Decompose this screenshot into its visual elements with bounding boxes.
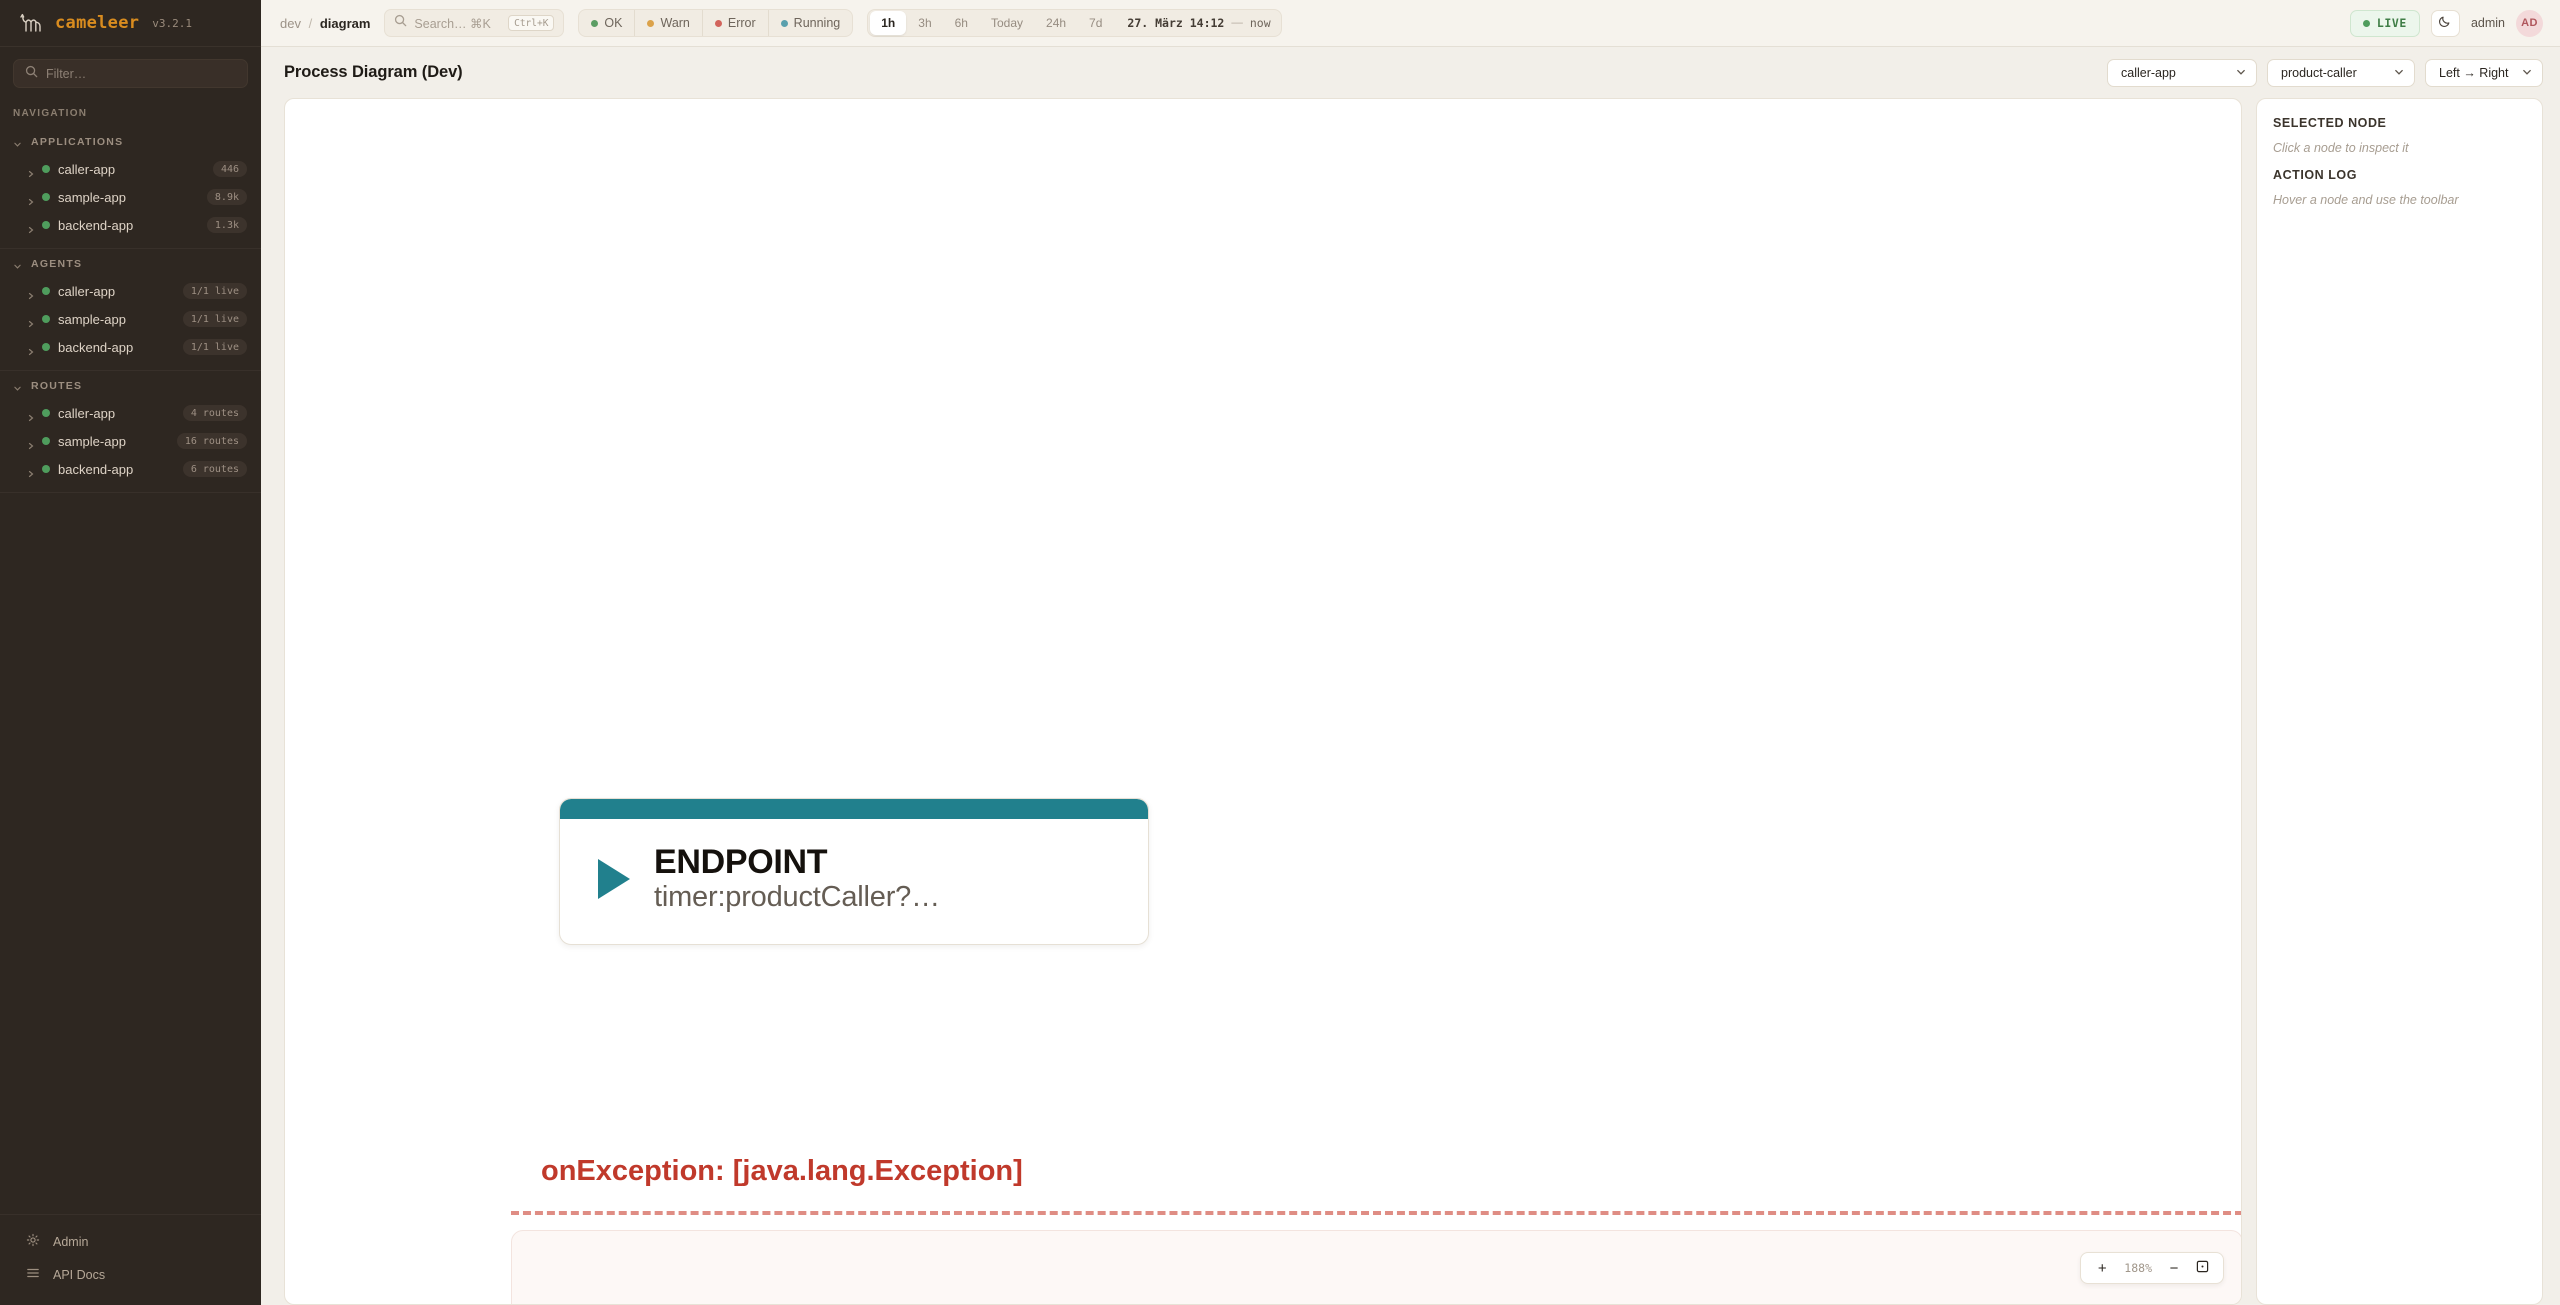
sidebar-item-badge: 1/1 live (183, 283, 247, 299)
chevron-down-icon (2522, 66, 2532, 80)
status-dot (42, 315, 50, 323)
sidebar-item-label: backend-app (58, 218, 133, 233)
zoom-level-value: 188% (2117, 1261, 2159, 1275)
user-name: admin (2471, 16, 2505, 30)
search-input[interactable]: Search… ⌘K Ctrl+K (384, 9, 564, 37)
theme-toggle-button[interactable] (2431, 10, 2460, 37)
action-log-title: ACTION LOG (2273, 168, 2526, 182)
status-chip-error[interactable]: Error (703, 10, 769, 36)
chevron-down-icon (2394, 66, 2404, 80)
status-filter-chips: OK Warn Error Running (578, 9, 853, 37)
sidebar-item-app-backend-app[interactable]: backend-app 1.3k (0, 211, 261, 239)
node-text: ENDPOINT timer:productCaller?… (654, 843, 940, 914)
sidebar-item-label: caller-app (58, 406, 115, 421)
sidebar-item-label: sample-app (58, 190, 126, 205)
breadcrumb-separator: / (309, 16, 313, 31)
search-shortcut-badge: Ctrl+K (508, 15, 554, 31)
status-chip-label: Running (794, 16, 841, 30)
sidebar-item-label: backend-app (58, 462, 133, 477)
status-chip-label: OK (604, 16, 622, 30)
sidebar: cameleer v3.2.1 NAVIGATION APPLICATIONS (0, 0, 261, 1305)
group-header-routes[interactable]: ROUTES (0, 371, 261, 399)
sidebar-item-badge: 8.9k (207, 189, 247, 205)
sidebar-item-badge: 1/1 live (183, 311, 247, 327)
sidebar-group-agents: AGENTS caller-app 1/1 live sample-app 1/… (0, 249, 261, 371)
topbar-right: LIVE admin AD (2350, 10, 2543, 37)
range-to: now (1244, 16, 1279, 30)
time-range-selector: 1h 3h 6h Today 24h 7d 27. März 14:12 — n… (867, 9, 1281, 37)
sidebar-item-route-sample-app[interactable]: sample-app 16 routes (0, 427, 261, 455)
breadcrumb[interactable]: dev / diagram (280, 16, 370, 31)
fit-view-icon (2196, 1260, 2209, 1277)
inspector-panel: SELECTED NODE Click a node to inspect it… (2256, 98, 2543, 1305)
status-dot-error (715, 20, 722, 27)
sidebar-footer-label: Admin (53, 1235, 88, 1249)
zoom-controls: + 188% − (2080, 1252, 2224, 1284)
status-dot-ok (591, 20, 598, 27)
sidebar-footer-label: API Docs (53, 1268, 105, 1282)
chevron-right-icon (28, 315, 34, 323)
diagram-controls: caller-app product-caller Left → Right (2107, 59, 2543, 87)
sidebar-item-agent-sample-app[interactable]: sample-app 1/1 live (0, 305, 261, 333)
range-3h[interactable]: 3h (907, 11, 942, 35)
sidebar-item-label: sample-app (58, 434, 126, 449)
camel-icon (18, 12, 44, 34)
node-body: ENDPOINT timer:productCaller?… (560, 819, 1148, 944)
node-uri-label: timer:productCaller?… (654, 881, 940, 914)
sidebar-group-routes: ROUTES caller-app 4 routes sample-app 16… (0, 371, 261, 493)
range-today[interactable]: Today (980, 11, 1034, 35)
sidebar-footer: Admin API Docs (0, 1214, 261, 1305)
sidebar-item-api-docs[interactable]: API Docs (0, 1258, 261, 1291)
fit-view-button[interactable] (2189, 1255, 2215, 1281)
direction-select-value: Left → Right (2439, 66, 2508, 80)
chevron-right-icon (28, 221, 34, 229)
node-endpoint[interactable]: ENDPOINT timer:productCaller?… (559, 798, 1149, 945)
application-select-value: caller-app (2121, 66, 2176, 80)
play-icon (598, 859, 630, 899)
diagram-canvas[interactable]: ENDPOINT timer:productCaller?… onExcepti… (284, 98, 2242, 1305)
status-dot (42, 287, 50, 295)
range-24h[interactable]: 24h (1035, 11, 1077, 35)
status-chip-ok[interactable]: OK (579, 10, 635, 36)
zoom-out-button[interactable]: − (2161, 1255, 2187, 1281)
list-icon (26, 1266, 40, 1283)
route-select-value: product-caller (2281, 66, 2357, 80)
status-chip-label: Error (728, 16, 756, 30)
sidebar-item-label: backend-app (58, 340, 133, 355)
status-dot (42, 221, 50, 229)
content-area: ENDPOINT timer:productCaller?… onExcepti… (261, 98, 2560, 1305)
moon-icon (2438, 14, 2452, 33)
node-kind-label: ENDPOINT (654, 843, 940, 881)
breadcrumb-root[interactable]: dev (280, 16, 301, 31)
group-header-agents[interactable]: AGENTS (0, 249, 261, 277)
navigation-label: NAVIGATION (0, 98, 261, 127)
sidebar-filter-wrap (0, 47, 261, 98)
exception-region (511, 1230, 2242, 1305)
range-dash: — (1231, 17, 1243, 29)
sidebar-item-app-sample-app[interactable]: sample-app 8.9k (0, 183, 261, 211)
exception-boundary-line (511, 1211, 2242, 1215)
breadcrumb-current: diagram (320, 16, 371, 31)
chevron-right-icon (28, 343, 34, 351)
sidebar-group-applications: APPLICATIONS caller-app 446 sample-app 8… (0, 127, 261, 249)
zoom-in-button[interactable]: + (2089, 1255, 2115, 1281)
live-badge[interactable]: LIVE (2350, 10, 2420, 37)
sidebar-item-badge: 6 routes (183, 461, 247, 477)
sidebar-item-badge: 4 routes (183, 405, 247, 421)
chevron-right-icon (28, 287, 34, 295)
action-log-hint: Hover a node and use the toolbar (2273, 193, 2526, 207)
live-dot (2363, 20, 2370, 27)
chevron-down-icon (2236, 66, 2246, 80)
range-from: 27. März 14:12 (1114, 16, 1230, 30)
avatar[interactable]: AD (2516, 10, 2543, 37)
main-area: dev / diagram Search… ⌘K Ctrl+K OK (261, 0, 2560, 1305)
sidebar-item-app-caller-app[interactable]: caller-app 446 (0, 155, 261, 183)
sidebar-item-badge: 16 routes (177, 433, 247, 449)
range-6h[interactable]: 6h (944, 11, 979, 35)
chevron-right-icon (28, 437, 34, 445)
search-icon (25, 65, 38, 83)
sidebar-item-badge: 1/1 live (183, 339, 247, 355)
direction-select[interactable]: Left → Right (2425, 59, 2543, 87)
status-dot (42, 343, 50, 351)
group-title: ROUTES (31, 380, 82, 392)
status-dot-running (781, 20, 788, 27)
live-label: LIVE (2377, 16, 2407, 30)
route-select[interactable]: product-caller (2267, 59, 2415, 87)
status-chip-warn[interactable]: Warn (635, 10, 702, 36)
status-dot (42, 437, 50, 445)
node-header-bar (560, 799, 1148, 819)
sidebar-item-agent-caller-app[interactable]: caller-app 1/1 live (0, 277, 261, 305)
brand-name: cameleer (55, 13, 139, 33)
selected-node-hint: Click a node to inspect it (2273, 141, 2526, 155)
status-dot (42, 193, 50, 201)
group-header-applications[interactable]: APPLICATIONS (0, 127, 261, 155)
application-select[interactable]: caller-app (2107, 59, 2257, 87)
page-header: Process Diagram (Dev) caller-app product… (261, 47, 2560, 98)
sidebar-item-admin[interactable]: Admin (0, 1225, 261, 1258)
app-root: cameleer v3.2.1 NAVIGATION APPLICATIONS (0, 0, 2560, 1305)
search-placeholder: Search… ⌘K (414, 16, 501, 31)
chevron-down-icon (14, 261, 21, 268)
chevron-right-icon (28, 465, 34, 473)
selected-node-title: SELECTED NODE (2273, 116, 2526, 130)
group-title: AGENTS (31, 258, 82, 270)
exception-handler-label: onException: [java.lang.Exception] (541, 1155, 1023, 1188)
brand-version: v3.2.1 (152, 17, 192, 30)
chevron-down-icon (14, 383, 21, 390)
chevron-right-icon (28, 193, 34, 201)
page-title: Process Diagram (Dev) (284, 63, 463, 82)
topbar: dev / diagram Search… ⌘K Ctrl+K OK (261, 0, 2560, 47)
sidebar-item-label: sample-app (58, 312, 126, 327)
search-icon (394, 14, 407, 32)
sidebar-item-route-caller-app[interactable]: caller-app 4 routes (0, 399, 261, 427)
status-dot (42, 165, 50, 173)
status-chip-running[interactable]: Running (769, 10, 853, 36)
gear-icon (26, 1233, 40, 1250)
range-1h[interactable]: 1h (870, 11, 906, 35)
brand[interactable]: cameleer v3.2.1 (0, 0, 261, 47)
filter-input[interactable] (46, 67, 236, 81)
range-7d[interactable]: 7d (1078, 11, 1113, 35)
sidebar-filter[interactable] (13, 59, 248, 88)
status-dot (42, 465, 50, 473)
sidebar-item-route-backend-app[interactable]: backend-app 6 routes (0, 455, 261, 483)
sidebar-item-badge: 446 (213, 161, 247, 177)
status-chip-label: Warn (660, 16, 689, 30)
status-dot-warn (647, 20, 654, 27)
chevron-right-icon (28, 409, 34, 417)
sidebar-item-agent-backend-app[interactable]: backend-app 1/1 live (0, 333, 261, 361)
chevron-right-icon (28, 165, 34, 173)
sidebar-item-label: caller-app (58, 284, 115, 299)
sidebar-item-label: caller-app (58, 162, 115, 177)
group-title: APPLICATIONS (31, 136, 123, 148)
chevron-down-icon (14, 139, 21, 146)
sidebar-item-badge: 1.3k (207, 217, 247, 233)
status-dot (42, 409, 50, 417)
